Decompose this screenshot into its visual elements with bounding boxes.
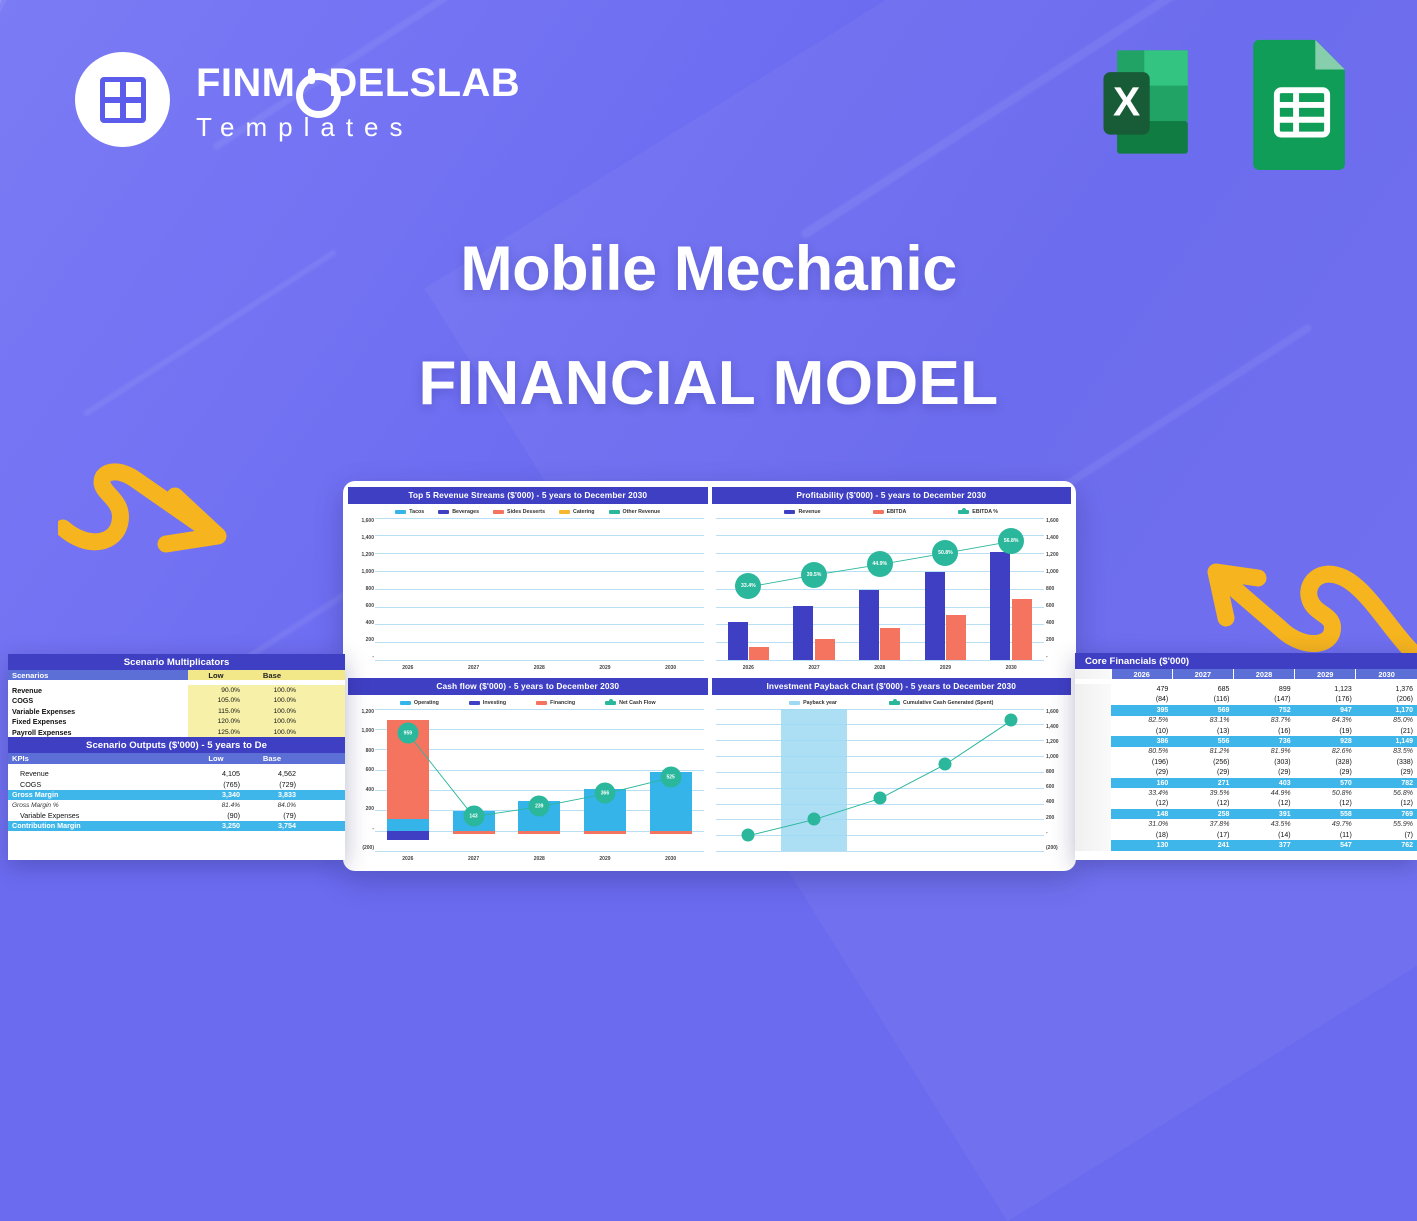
table-row[interactable]: Revenue90.0%100.0%	[8, 685, 345, 695]
cell-low: 3,250	[188, 821, 244, 831]
row-label: Variable Expenses	[8, 810, 188, 820]
x-tick: 2027	[441, 665, 507, 671]
legend-swatch	[536, 701, 547, 705]
legend-label: Cumulative Cash Generated (Spent)	[903, 700, 993, 706]
table-row[interactable]: (10)(13)(16)(19)(21)	[1075, 726, 1417, 736]
table-row[interactable]: Variable Expenses115.0%100.0%	[8, 706, 345, 716]
data-label: 143	[463, 806, 484, 827]
cell-value: 55.9%	[1356, 819, 1417, 829]
data-label: 959	[397, 723, 418, 744]
brand-tagline: Templates	[196, 114, 520, 140]
row-gutter	[1075, 840, 1111, 850]
cell-value: 33.4%	[1111, 788, 1172, 798]
cell-low: 120.0%	[188, 717, 244, 727]
legend-item[interactable]: EBITDA	[873, 509, 907, 515]
cell-value: (10)	[1111, 726, 1172, 736]
svg-text:X: X	[1113, 79, 1140, 125]
cell-value: (256)	[1172, 757, 1233, 767]
row-label: Revenue	[8, 685, 188, 695]
col-year: 2029	[1295, 669, 1356, 679]
row-gutter	[1075, 726, 1111, 736]
page-subtitle: FINANCIAL MODEL	[0, 348, 1417, 419]
row-gutter	[1075, 684, 1111, 694]
cell-value: 81.9%	[1233, 747, 1294, 757]
table-row[interactable]: (12)(12)(12)(12)(12)	[1075, 799, 1417, 809]
cell-value: (13)	[1172, 726, 1233, 736]
cell-value: (84)	[1111, 695, 1172, 705]
table-row[interactable]: 3955697529471,170	[1075, 705, 1417, 715]
brand-logo[interactable]: FINMDELSLAB Templates	[75, 52, 520, 147]
x-tick: 2028	[506, 665, 572, 671]
brand-text: FINMDELSLAB Templates	[196, 59, 520, 140]
table-row[interactable]: Gross Margin %81.4%84.0%	[8, 800, 345, 810]
cell-value: (338)	[1356, 757, 1417, 767]
x-axis-labels: 2026 2027 2028 2029 2030	[716, 661, 1045, 674]
legend-label: Other Revenue	[623, 509, 661, 515]
cell-value: 83.7%	[1233, 716, 1294, 726]
row-gutter	[1075, 757, 1111, 767]
table-row[interactable]: 33.4%39.5%44.9%50.8%56.8%	[1075, 788, 1417, 798]
legend-item[interactable]: Cumulative Cash Generated (Spent)	[889, 700, 993, 706]
cell-extra	[300, 800, 345, 810]
scenario-multiplicators-banner: Scenario Multiplicators	[8, 654, 345, 670]
legend-item[interactable]: Payback year	[789, 700, 837, 706]
legend-label: Net Cash Flow	[619, 700, 656, 706]
cell-value: (12)	[1172, 799, 1233, 809]
y-tick: 600	[350, 603, 374, 609]
col-extra	[300, 670, 345, 680]
chart-plot-revenue-streams: 1,600 1,400 1,200 1,000 800 600 400 200 …	[348, 518, 708, 675]
row-gutter	[1075, 819, 1111, 829]
table-header-row: KPIs Low Base	[8, 753, 345, 763]
legend-swatch	[873, 510, 884, 514]
cell-value: (196)	[1111, 757, 1172, 767]
cell-value: (206)	[1356, 695, 1417, 705]
legend-swatch	[958, 510, 969, 514]
legend-item[interactable]: Operating	[400, 700, 439, 706]
table-row[interactable]: 160271403570782	[1075, 778, 1417, 788]
row-label: Gross Margin %	[8, 800, 188, 810]
cell-value: 1,170	[1356, 705, 1417, 715]
core-financials-spreadsheet[interactable]: Core Financials ($'000) 2026202720282029…	[1075, 653, 1417, 860]
table-row[interactable]: (196)(256)(303)(328)(338)	[1075, 757, 1417, 767]
legend-item[interactable]: Sides Desserts	[493, 509, 545, 515]
file-format-icons: X	[1079, 34, 1357, 170]
chart-data-labels-net-cash-flow: 959143239366525	[348, 709, 708, 866]
cell-base: 100.0%	[244, 685, 300, 695]
table-row[interactable]: 148258391558769	[1075, 809, 1417, 819]
cell-value: 685	[1172, 684, 1233, 694]
col-year: 2026	[1111, 669, 1172, 679]
cell-value: 386	[1111, 736, 1172, 746]
cell-base: 84.0%	[244, 800, 300, 810]
cell-low: (90)	[188, 810, 244, 820]
col-base: Base	[244, 753, 300, 763]
row-gutter	[1075, 830, 1111, 840]
cell-low: 81.4%	[188, 800, 244, 810]
col-year: 2028	[1233, 669, 1294, 679]
row-label: COGS	[8, 696, 188, 706]
cell-base: 100.0%	[244, 727, 300, 737]
cell-value: 1,376	[1356, 684, 1417, 694]
cell-value: (29)	[1295, 768, 1356, 778]
cell-value: (328)	[1295, 757, 1356, 767]
cell-base: 3,754	[244, 821, 300, 831]
legend-item[interactable]: Other Revenue	[609, 509, 661, 515]
table-row[interactable]: Variable Expenses(90)(79)	[8, 810, 345, 820]
row-gutter	[1075, 809, 1111, 819]
legend-swatch	[438, 510, 449, 514]
cell-value: 81.2%	[1172, 747, 1233, 757]
cell-low: 105.0%	[188, 696, 244, 706]
col-year: 2030	[1356, 669, 1417, 679]
cell-extra	[300, 790, 345, 800]
chart-panel-investment-payback: Investment Payback Chart ($'000) - 5 yea…	[712, 678, 1072, 865]
cell-value: (16)	[1233, 726, 1294, 736]
x-tick: 2029	[572, 665, 638, 671]
bar-group[interactable]	[386, 518, 430, 661]
row-label: Payroll Expenses	[8, 727, 188, 737]
data-label: 33.4%	[735, 573, 761, 599]
bar-group[interactable]	[517, 518, 561, 661]
chart-legend-cash-flow: Operating Investing Financing Net Cash F…	[348, 695, 708, 709]
chart-title-investment-payback: Investment Payback Chart ($'000) - 5 yea…	[712, 678, 1072, 695]
cell-value: (11)	[1295, 830, 1356, 840]
row-gutter	[1075, 705, 1111, 715]
cell-value: 752	[1233, 705, 1294, 715]
cell-value: (12)	[1356, 799, 1417, 809]
cell-value: 928	[1295, 736, 1356, 746]
table-row[interactable]: Gross Margin3,3403,833	[8, 790, 345, 800]
data-label: 525	[660, 767, 681, 788]
bar-group[interactable]	[583, 518, 627, 661]
y-tick: 200	[350, 637, 374, 643]
scenario-spreadsheet[interactable]: Scenario Multiplicators Scenarios Low Ba…	[8, 654, 345, 860]
row-gutter	[1075, 716, 1111, 726]
cell-value: 736	[1233, 736, 1294, 746]
data-label: 39.5%	[801, 562, 827, 588]
table-row[interactable]: COGS(765)(729)	[8, 779, 345, 789]
row-gutter	[1075, 669, 1111, 679]
row-gutter	[1075, 788, 1111, 798]
bar-group[interactable]	[452, 518, 496, 661]
cell-value: 271	[1172, 778, 1233, 788]
cell-value: 37.8%	[1172, 819, 1233, 829]
row-gutter	[1075, 778, 1111, 788]
cell-value: 782	[1356, 778, 1417, 788]
cell-value: 569	[1172, 705, 1233, 715]
legend-label: Beverages	[452, 509, 479, 515]
table-row[interactable]: 82.5%83.1%83.7%84.3%85.0%	[1075, 716, 1417, 726]
cell-extra	[300, 685, 345, 695]
x-tick: 2030	[638, 856, 704, 862]
row-gutter	[1075, 736, 1111, 746]
cell-value: 50.8%	[1295, 788, 1356, 798]
cell-base: 3,833	[244, 790, 300, 800]
cell-value: 769	[1356, 809, 1417, 819]
cell-value: (12)	[1295, 799, 1356, 809]
cell-value: 556	[1172, 736, 1233, 746]
curved-arrow-right-icon	[58, 452, 248, 570]
cell-extra	[300, 810, 345, 820]
cell-extra	[300, 706, 345, 716]
chart-plot-cash-flow: 1,200 1,000 800 600 400 200 - (200) 9591…	[348, 709, 708, 866]
legend-label: Tacos	[409, 509, 424, 515]
cell-low: 125.0%	[188, 727, 244, 737]
x-axis-labels: 2026 2027 2028 2029 2030	[375, 852, 704, 865]
table-row[interactable]: 3865567369281,149	[1075, 736, 1417, 746]
legend-label: Financing	[550, 700, 575, 706]
chart-title-cash-flow: Cash flow ($'000) - 5 years to December …	[348, 678, 708, 695]
cell-value: (12)	[1233, 799, 1294, 809]
x-tick: 2027	[441, 856, 507, 862]
table-header-row: 20262027202820292030	[1075, 669, 1417, 679]
cell-value: (21)	[1356, 726, 1417, 736]
table-row[interactable]: 130241377547762	[1075, 840, 1417, 850]
row-gutter	[1075, 747, 1111, 757]
cell-value: 479	[1111, 684, 1172, 694]
chart-legend-profitability: Revenue EBITDA EBITDA %	[712, 504, 1072, 518]
cell-base: (79)	[244, 810, 300, 820]
legend-swatch	[609, 510, 620, 514]
table-row[interactable]: (84)(116)(147)(176)(206)	[1075, 695, 1417, 705]
cell-value: 49.7%	[1295, 819, 1356, 829]
row-label: COGS	[8, 779, 188, 789]
table-row[interactable]: Payroll Expenses125.0%100.0%	[8, 727, 345, 737]
row-gutter	[1075, 768, 1111, 778]
cell-value: (303)	[1233, 757, 1294, 767]
legend-swatch	[889, 701, 900, 705]
col-low: Low	[188, 670, 244, 680]
brand-name-part2: DELSLAB	[328, 63, 520, 103]
legend-label: Revenue	[798, 509, 820, 515]
cell-value: (17)	[1172, 830, 1233, 840]
row-gutter	[1075, 695, 1111, 705]
legend-label: EBITDA	[887, 509, 907, 515]
cell-value: (116)	[1172, 695, 1233, 705]
cell-value: 82.6%	[1295, 747, 1356, 757]
cell-value: 160	[1111, 778, 1172, 788]
col-year: 2027	[1172, 669, 1233, 679]
line-marker	[939, 757, 952, 770]
legend-swatch	[784, 510, 795, 514]
cell-value: 56.8%	[1356, 788, 1417, 798]
line-marker	[1005, 713, 1018, 726]
cell-value: 395	[1111, 705, 1172, 715]
cell-value: 84.3%	[1295, 716, 1356, 726]
cell-value: (12)	[1111, 799, 1172, 809]
table-row[interactable]: (29)(29)(29)(29)(29)	[1075, 768, 1417, 778]
x-tick: 2028	[847, 665, 913, 671]
x-tick: 2027	[781, 665, 847, 671]
cell-value: 39.5%	[1172, 788, 1233, 798]
legend-label: Operating	[414, 700, 439, 706]
table-row[interactable]: 80.5%81.2%81.9%82.6%83.5%	[1075, 747, 1417, 757]
chart-title-profitability: Profitability ($'000) - 5 years to Decem…	[712, 487, 1072, 504]
chart-plot-investment-payback: 1,600 1,400 1,200 1,000 800 600 400 200 …	[712, 709, 1072, 866]
legend-swatch	[789, 701, 800, 705]
x-axis-labels	[716, 852, 1045, 865]
legend-label: EBITDA %	[972, 509, 998, 515]
cell-value: (7)	[1356, 830, 1417, 840]
legend-item[interactable]: EBITDA %	[958, 509, 998, 515]
legend-swatch	[493, 510, 504, 514]
cell-extra	[300, 717, 345, 727]
cell-low: 3,340	[188, 790, 244, 800]
chart-title-revenue-streams: Top 5 Revenue Streams ($'000) - 5 years …	[348, 487, 708, 504]
cell-value: 762	[1356, 840, 1417, 850]
dashboard-card: Top 5 Revenue Streams ($'000) - 5 years …	[343, 481, 1076, 871]
table-row[interactable]: Contribution Margin3,2503,754	[8, 821, 345, 831]
bar-group[interactable]	[649, 518, 693, 661]
x-tick: 2026	[716, 665, 782, 671]
cell-low: (765)	[188, 779, 244, 789]
y-tick: 800	[350, 586, 374, 592]
data-label: 239	[529, 796, 550, 817]
legend-item[interactable]: Revenue	[784, 509, 820, 515]
brand-name: FINMDELSLAB	[196, 63, 520, 103]
cell-value: 547	[1295, 840, 1356, 850]
legend-swatch	[559, 510, 570, 514]
x-tick: 2030	[638, 665, 704, 671]
legend-label: Investing	[483, 700, 506, 706]
cell-value: (19)	[1295, 726, 1356, 736]
legend-label: Sides Desserts	[507, 509, 545, 515]
y-tick: 1,600	[350, 518, 374, 524]
table-row[interactable]: COGS105.0%100.0%	[8, 696, 345, 706]
cell-value: 80.5%	[1111, 747, 1172, 757]
cell-value: 377	[1233, 840, 1294, 850]
table-row[interactable]: (18)(17)(14)(11)(7)	[1075, 830, 1417, 840]
y-axis-labels: 1,600 1,400 1,200 1,000 800 600 400 200 …	[350, 518, 374, 661]
line-marker	[873, 791, 886, 804]
legend-item[interactable]: Catering	[559, 509, 595, 515]
cell-value: 1,123	[1295, 684, 1356, 694]
row-label: Variable Expenses	[8, 706, 188, 716]
row-label: Fixed Expenses	[8, 717, 188, 727]
chart-legend-investment-payback: Payback year Cumulative Cash Generated (…	[712, 695, 1072, 709]
legend-item[interactable]: Financing	[536, 700, 575, 706]
cell-value: 558	[1295, 809, 1356, 819]
cell-value: 570	[1295, 778, 1356, 788]
legend-item[interactable]: Beverages	[438, 509, 479, 515]
legend-item[interactable]: Net Cash Flow	[605, 700, 656, 706]
x-axis-labels: 2026 2027 2028 2029 2030	[375, 661, 704, 674]
cell-value: 899	[1233, 684, 1294, 694]
cell-value: (176)	[1295, 695, 1356, 705]
page-title: Mobile Mechanic	[0, 236, 1417, 302]
cell-value: (14)	[1233, 830, 1294, 840]
x-tick: 2029	[913, 665, 979, 671]
y-tick: 400	[350, 620, 374, 626]
cell-low: 90.0%	[188, 685, 244, 695]
legend-swatch	[469, 701, 480, 705]
cell-extra	[300, 821, 345, 831]
cell-extra	[300, 727, 345, 737]
data-label: 56.8%	[998, 528, 1024, 554]
chart-panel-cash-flow: Cash flow ($'000) - 5 years to December …	[348, 678, 708, 865]
cell-value: 258	[1172, 809, 1233, 819]
chart-panel-revenue-streams: Top 5 Revenue Streams ($'000) - 5 years …	[348, 487, 708, 674]
x-tick: 2029	[572, 856, 638, 862]
x-tick: 2030	[978, 665, 1044, 671]
brand-name-part1: FINM	[196, 63, 295, 103]
cell-value: 403	[1233, 778, 1294, 788]
cell-extra	[300, 779, 345, 789]
y-tick: 1,400	[350, 535, 374, 541]
table-row[interactable]: Revenue4,1054,562	[8, 769, 345, 779]
chart-data-labels-ebitda-pct: 33.4%39.5%44.9%50.8%56.8%	[712, 518, 1072, 675]
x-tick: 2028	[506, 856, 572, 862]
cell-base: 100.0%	[244, 696, 300, 706]
legend-item[interactable]: Tacos	[395, 509, 424, 515]
col-base: Base	[244, 670, 300, 680]
legend-item[interactable]: Investing	[469, 700, 506, 706]
cell-value: 31.0%	[1111, 819, 1172, 829]
microsoft-excel-icon[interactable]: X	[1079, 34, 1215, 170]
legend-swatch	[395, 510, 406, 514]
table-row[interactable]: 31.0%37.8%43.5%49.7%55.9%	[1075, 819, 1417, 829]
cell-base: 100.0%	[244, 717, 300, 727]
table-row[interactable]: 4796858991,1231,376	[1075, 684, 1417, 694]
cell-value: 85.0%	[1356, 716, 1417, 726]
col-extra	[300, 753, 345, 763]
cell-low: 115.0%	[188, 706, 244, 716]
cell-value: 391	[1233, 809, 1294, 819]
scenario-multiplicators-table: Scenarios Low Base Revenue90.0%100.0% CO…	[8, 670, 345, 737]
y-tick: 1,000	[350, 569, 374, 575]
data-label: 366	[594, 783, 615, 804]
core-financials-table: 20262027202820292030 4796858991,1231,376…	[1075, 669, 1417, 851]
cell-value: 44.9%	[1233, 788, 1294, 798]
x-tick: 2026	[375, 665, 441, 671]
col-low: Low	[188, 753, 244, 763]
cell-value: (29)	[1233, 768, 1294, 778]
google-sheets-icon[interactable]	[1247, 34, 1357, 170]
row-gutter	[1075, 799, 1111, 809]
cell-value: (18)	[1111, 830, 1172, 840]
table-row[interactable]: Fixed Expenses120.0%100.0%	[8, 717, 345, 727]
cell-value: 83.1%	[1172, 716, 1233, 726]
chart-plot-profitability: 1,600 1,400 1,200 1,000 800 600 400 200 …	[712, 518, 1072, 675]
x-tick: 2026	[375, 856, 441, 862]
row-label: Revenue	[8, 769, 188, 779]
line-marker	[808, 812, 821, 825]
cell-value: (29)	[1111, 768, 1172, 778]
cell-value: 947	[1295, 705, 1356, 715]
cell-value: 43.5%	[1233, 819, 1294, 829]
cell-value: 82.5%	[1111, 716, 1172, 726]
table-header-row: Scenarios Low Base	[8, 670, 345, 680]
row-label: Gross Margin	[8, 790, 188, 800]
legend-swatch	[400, 701, 411, 705]
row-label: Contribution Margin	[8, 821, 188, 831]
cell-value: 241	[1172, 840, 1233, 850]
cell-low: 4,105	[188, 769, 244, 779]
scenario-outputs-banner: Scenario Outputs ($'000) - 5 years to De	[8, 737, 345, 753]
col-scenarios: Scenarios	[8, 670, 188, 680]
cell-value: (147)	[1233, 695, 1294, 705]
logo-mark	[75, 52, 170, 147]
cell-value: (29)	[1172, 768, 1233, 778]
brand-power-o-icon	[296, 68, 327, 99]
data-label: 44.9%	[867, 551, 893, 577]
cell-value: 130	[1111, 840, 1172, 850]
legend-label: Catering	[573, 509, 595, 515]
cell-value: 83.5%	[1356, 747, 1417, 757]
cell-value: 148	[1111, 809, 1172, 819]
grid-icon	[100, 77, 146, 123]
